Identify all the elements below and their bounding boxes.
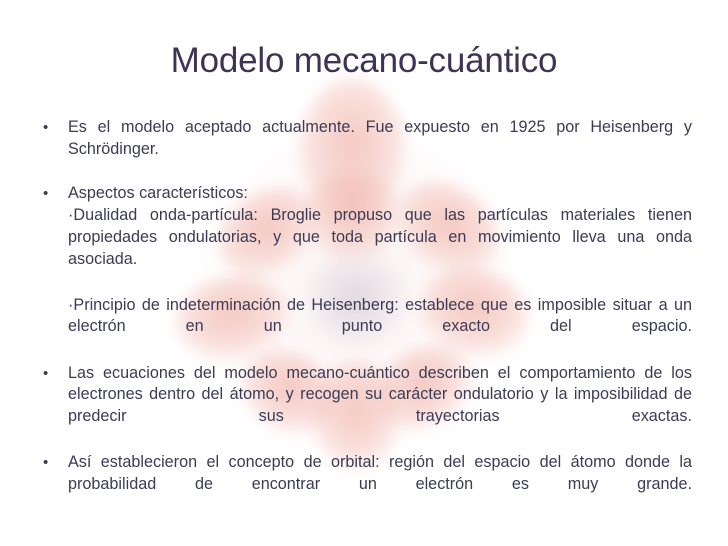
bullet-item-3: •Las ecuaciones del modelo mecano-cuánti… <box>40 363 692 449</box>
bullet-item-2: •Aspectos característicos: <box>40 183 692 205</box>
bullet-marker: • <box>43 117 59 139</box>
bullet-text: Así establecieron el concepto de orbital… <box>68 453 692 514</box>
bullet-text: Las ecuaciones del modelo mecano-cuántic… <box>68 364 692 447</box>
bullet-item-4: •Así establecieron el concepto de orbita… <box>40 452 692 517</box>
sub-bullet-text: ·Dualidad onda-partícula: Broglie propus… <box>68 206 692 289</box>
slide-body: •Es el modelo aceptado actualmente. Fue … <box>40 117 692 518</box>
page-title: Modelo mecano-cuántico <box>0 40 728 82</box>
bullet-text: Aspectos característicos: <box>68 184 248 202</box>
bullet-marker: • <box>43 363 59 385</box>
sub-bullet-item-uncertainty: ·Principio de indeterminación de Heisenb… <box>40 295 692 360</box>
bullet-text: Es el modelo aceptado actualmente. Fue e… <box>68 118 692 179</box>
bullet-marker: • <box>43 183 59 205</box>
slide-canvas: Modelo mecano-cuántico •Es el modelo ace… <box>0 0 728 546</box>
bullet-item-1: •Es el modelo aceptado actualmente. Fue … <box>40 117 692 182</box>
sub-bullet-text: ·Principio de indeterminación de Heisenb… <box>68 296 692 357</box>
bullet-marker: • <box>43 452 59 474</box>
sub-bullet-item-duality: ·Dualidad onda-partícula: Broglie propus… <box>40 205 692 291</box>
